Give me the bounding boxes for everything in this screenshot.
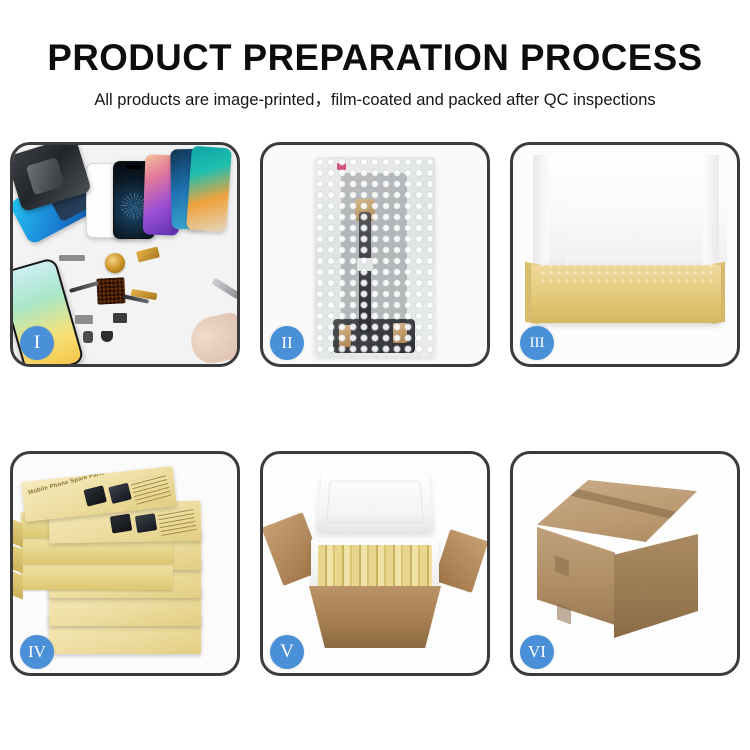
product-preparation-poster: PRODUCT PREPARATION PROCESS All products… <box>0 0 750 750</box>
box-spec-lines-top <box>130 472 171 504</box>
poster-header: PRODUCT PREPARATION PROCESS All products… <box>0 0 750 111</box>
step-badge-4: IV <box>20 635 54 669</box>
step-badge-5: V <box>270 635 304 669</box>
styrofoam-lid <box>316 473 434 533</box>
step-panel-4: Mobile Phone Spare Parts Mobile Phone Sp… <box>10 451 240 676</box>
box-phone-image-4 <box>108 483 132 504</box>
process-step-grid: I II <box>10 142 740 676</box>
technician-hand <box>187 311 237 364</box>
step-badge-3: III <box>520 326 554 360</box>
step-panel-5: V <box>260 451 490 676</box>
box-phone-image-2 <box>135 513 157 533</box>
retail-box-stack: Mobile Phone Spare Parts Mobile Phone Sp… <box>17 468 235 668</box>
box-spec-lines-front <box>157 506 197 536</box>
step-badge-6: VI <box>520 635 554 669</box>
bubble-wrap-bag <box>315 157 435 357</box>
step-panel-6: VI <box>510 451 740 676</box>
stacked-box-left-4 <box>21 564 173 590</box>
gold-connector-1 <box>136 247 160 263</box>
box-phone-image-1 <box>110 514 132 534</box>
chip-part-1 <box>59 255 85 261</box>
carton-body <box>309 586 441 648</box>
carton-side-face <box>614 534 698 638</box>
phone-screen-teal <box>186 146 232 233</box>
taptic-part <box>101 331 113 342</box>
carton-top-face <box>537 480 697 542</box>
kraft-box-tray <box>531 265 721 323</box>
ic-chip-grid-part <box>96 277 125 304</box>
flex-cable-1 <box>69 281 99 293</box>
box-phone-image-3 <box>83 485 107 506</box>
page-subtitle: All products are image-printed，film-coat… <box>0 80 750 111</box>
bubble-wrap-texture <box>315 157 435 357</box>
carton-flap-right <box>434 529 487 593</box>
step-badge-2: II <box>270 326 304 360</box>
step-panel-2: II <box>260 142 490 367</box>
tweezers-tool <box>211 278 237 300</box>
step-badge-1: I <box>20 326 54 360</box>
camera-module-part <box>83 331 93 343</box>
speaker-coil-part <box>105 253 125 273</box>
step-panel-3: III <box>510 142 740 367</box>
styrofoam-tray <box>311 538 439 594</box>
chip-part-2 <box>75 315 93 324</box>
carton-front-face <box>537 527 615 625</box>
packed-yellow-boxes <box>318 545 432 590</box>
page-title: PRODUCT PREPARATION PROCESS <box>4 0 747 80</box>
step-panel-1: I <box>10 142 240 367</box>
chip-part-3 <box>113 313 127 323</box>
